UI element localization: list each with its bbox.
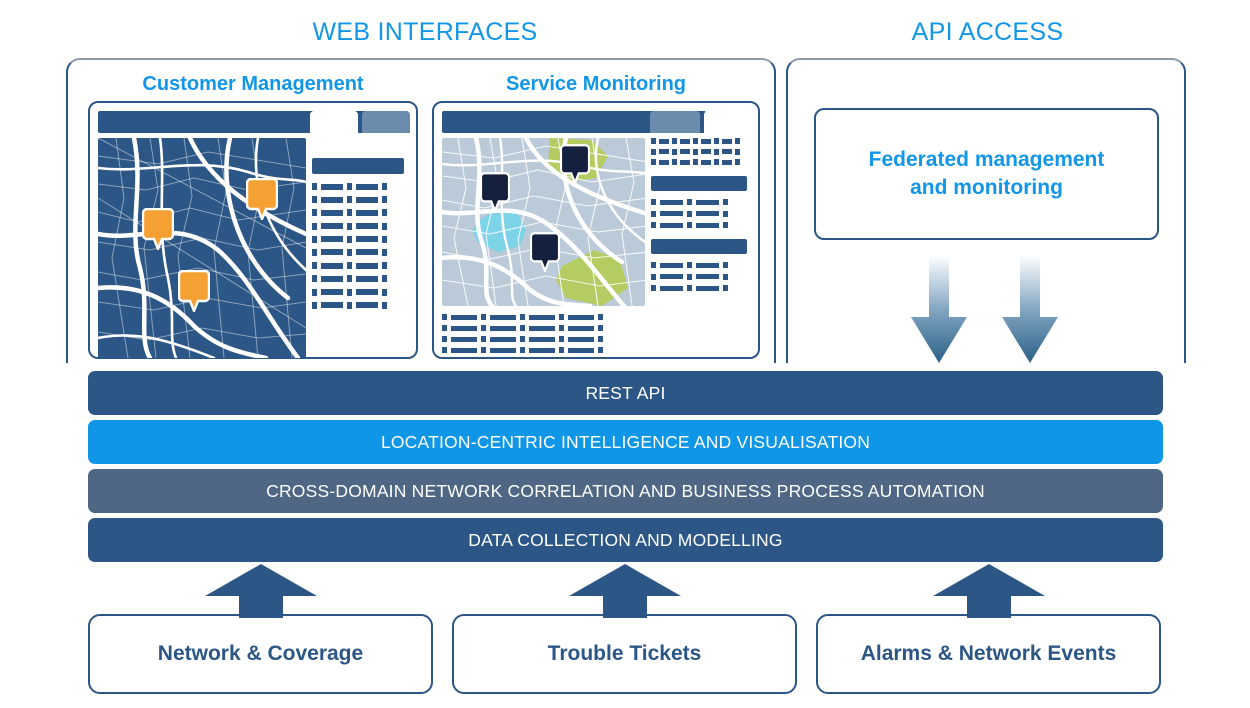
dense-grid-row[interactable] [651, 138, 750, 144]
federated-management-label: Federated management and monitoring [869, 146, 1105, 201]
strip-row[interactable] [442, 314, 650, 320]
section-header-bar [651, 176, 747, 191]
source-box-trouble-tickets[interactable]: Trouble Tickets [452, 614, 797, 694]
browser-tab-inactive[interactable] [362, 111, 410, 133]
table-row[interactable] [651, 222, 750, 228]
diagram-canvas: WEB INTERFACES API ACCESS Customer Manag… [0, 0, 1250, 708]
api-down-arrow-left [911, 255, 967, 363]
strip-row[interactable] [442, 347, 650, 353]
map-pin-1[interactable] [480, 172, 510, 212]
browser-tab-inactive[interactable] [650, 111, 700, 133]
table-row[interactable] [312, 289, 408, 296]
dense-grid-row[interactable] [651, 149, 750, 155]
service-side-panel[interactable] [651, 138, 750, 306]
map-pin-2[interactable] [560, 144, 590, 184]
service-bottom-strip[interactable] [442, 314, 650, 353]
customer-map-svg [98, 138, 306, 358]
customer-management-mockup[interactable] [88, 101, 418, 359]
table-row[interactable] [312, 249, 408, 256]
network-coverage-up-arrow [205, 564, 317, 618]
map-pin-3[interactable] [178, 270, 210, 312]
federated-line-2: and monitoring [910, 176, 1063, 199]
service-map[interactable] [442, 138, 645, 306]
map-pin-3[interactable] [530, 232, 560, 272]
strip-row[interactable] [442, 336, 650, 342]
source-box-alarms-network-events[interactable]: Alarms & Network Events [816, 614, 1161, 694]
customer-management-title: Customer Management [88, 73, 418, 96]
federated-line-1: Federated management [869, 148, 1105, 171]
layer-bar-data-collection-modelling[interactable]: DATA COLLECTION AND MODELLING [88, 518, 1163, 562]
customer-data-table[interactable] [312, 138, 408, 358]
table-row[interactable] [312, 183, 408, 190]
service-monitoring-title: Service Monitoring [432, 73, 760, 96]
trouble-tickets-up-arrow [569, 564, 681, 618]
browser-chrome-customer [98, 111, 408, 133]
table-row[interactable] [651, 262, 750, 268]
table-row[interactable] [651, 211, 750, 217]
layer-bar-rest-api[interactable]: REST API [88, 371, 1163, 415]
table-row[interactable] [312, 209, 408, 216]
table-row[interactable] [312, 262, 408, 269]
strip-row[interactable] [442, 325, 650, 331]
table-row[interactable] [312, 302, 408, 309]
service-mockup-body [442, 138, 750, 306]
customer-mockup-body [98, 138, 408, 358]
layer-bar-cross-domain-correlation[interactable]: CROSS-DOMAIN NETWORK CORRELATION AND BUS… [88, 469, 1163, 513]
table-row[interactable] [312, 275, 408, 282]
browser-chrome-service [442, 111, 750, 133]
federated-management-box[interactable]: Federated management and monitoring [814, 108, 1159, 240]
service-map-svg [442, 138, 645, 306]
alarms-network-events-up-arrow [933, 564, 1045, 618]
table-row[interactable] [312, 223, 408, 230]
api-down-arrow-right [1002, 255, 1058, 363]
table-row[interactable] [651, 274, 750, 280]
source-box-network-coverage[interactable]: Network & Coverage [88, 614, 433, 694]
web-interfaces-section-title: WEB INTERFACES [200, 18, 650, 47]
table-row[interactable] [651, 285, 750, 291]
api-access-section-title: API ACCESS [810, 18, 1165, 47]
layer-bar-location-centric-intelligence[interactable]: LOCATION-CENTRIC INTELLIGENCE AND VISUAL… [88, 420, 1163, 464]
map-pin-2[interactable] [246, 178, 278, 220]
section-header-bar [651, 239, 747, 254]
table-row[interactable] [651, 199, 750, 205]
browser-tab-active[interactable] [310, 111, 358, 133]
customer-map[interactable] [98, 138, 306, 358]
service-monitoring-mockup[interactable] [432, 101, 760, 359]
browser-tab-active[interactable] [704, 111, 752, 133]
table-header-bar [312, 158, 404, 174]
table-row[interactable] [312, 196, 408, 203]
map-pin-1[interactable] [142, 208, 174, 250]
table-row[interactable] [312, 236, 408, 243]
dense-grid-row[interactable] [651, 159, 750, 165]
